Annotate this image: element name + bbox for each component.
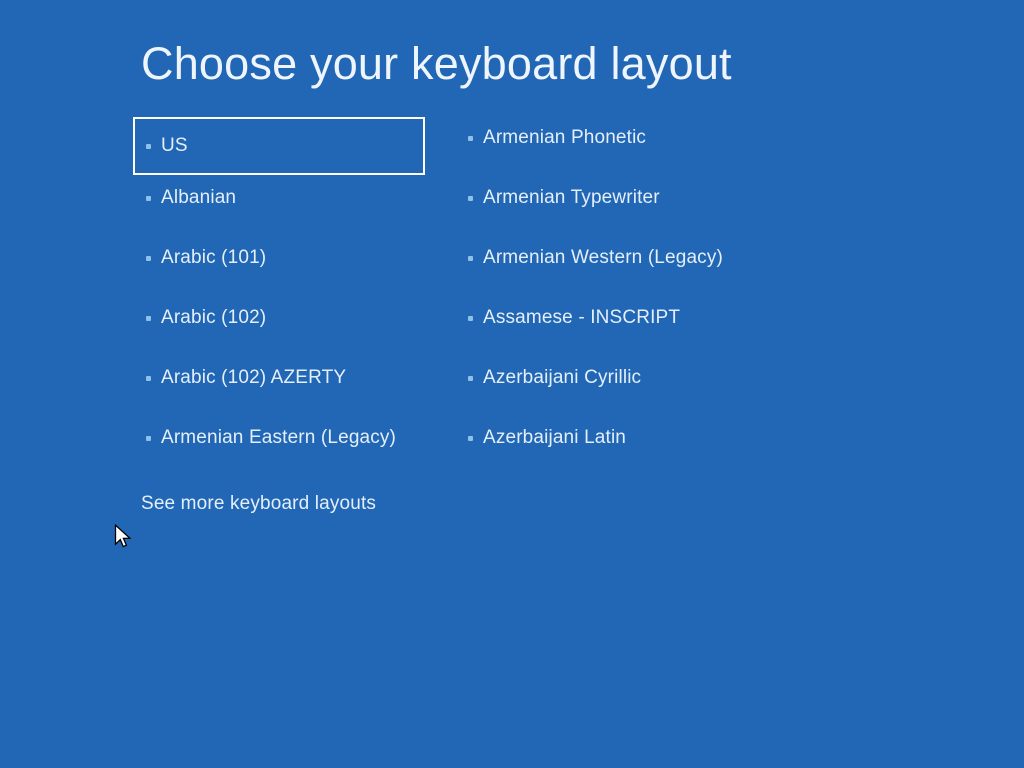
keyboard-layout-option[interactable]: Albanian bbox=[133, 180, 425, 216]
bullet-icon bbox=[468, 436, 473, 441]
keyboard-layout-option-label: US bbox=[161, 135, 188, 157]
keyboard-layout-option[interactable]: Arabic (101) bbox=[133, 240, 425, 276]
recovery-environment-screen: Choose your keyboard layout USAlbanianAr… bbox=[0, 0, 1024, 768]
keyboard-layout-option-label: Armenian Typewriter bbox=[483, 187, 660, 209]
bullet-icon bbox=[146, 376, 151, 381]
keyboard-layout-option-label: Assamese - INSCRIPT bbox=[483, 307, 680, 329]
keyboard-layout-option-label: Armenian Phonetic bbox=[483, 127, 646, 149]
keyboard-layout-option-label: Arabic (102) AZERTY bbox=[161, 367, 346, 389]
keyboard-layout-option[interactable]: US bbox=[133, 117, 425, 175]
bullet-icon bbox=[468, 316, 473, 321]
keyboard-layout-option-label: Arabic (101) bbox=[161, 247, 266, 269]
keyboard-layout-option-label: Azerbaijani Latin bbox=[483, 427, 626, 449]
bullet-icon bbox=[468, 196, 473, 201]
keyboard-layout-option-label: Arabic (102) bbox=[161, 307, 266, 329]
keyboard-layout-option-label: Albanian bbox=[161, 187, 236, 209]
keyboard-layout-option[interactable]: Armenian Western (Legacy) bbox=[455, 240, 785, 276]
keyboard-layout-option[interactable]: Assamese - INSCRIPT bbox=[455, 300, 785, 336]
keyboard-layout-list: USAlbanianArabic (101)Arabic (102)Arabic… bbox=[0, 0, 1024, 768]
keyboard-layout-option-label: Azerbaijani Cyrillic bbox=[483, 367, 641, 389]
bullet-icon bbox=[468, 136, 473, 141]
keyboard-layout-option[interactable]: Armenian Phonetic bbox=[455, 120, 785, 156]
bullet-icon bbox=[146, 196, 151, 201]
keyboard-layout-option[interactable]: Armenian Eastern (Legacy) bbox=[133, 420, 425, 456]
keyboard-layout-option[interactable]: Azerbaijani Cyrillic bbox=[455, 360, 785, 396]
bullet-icon bbox=[146, 256, 151, 261]
see-more-keyboard-layouts-link[interactable]: See more keyboard layouts bbox=[141, 492, 376, 516]
keyboard-layout-option[interactable]: Armenian Typewriter bbox=[455, 180, 785, 216]
keyboard-layout-option-label: Armenian Eastern (Legacy) bbox=[161, 427, 396, 449]
keyboard-layout-option[interactable]: Arabic (102) AZERTY bbox=[133, 360, 425, 396]
bullet-icon bbox=[146, 316, 151, 321]
bullet-icon bbox=[146, 144, 151, 149]
bullet-icon bbox=[468, 256, 473, 261]
keyboard-layout-option[interactable]: Azerbaijani Latin bbox=[455, 420, 785, 456]
keyboard-layout-option-label: Armenian Western (Legacy) bbox=[483, 247, 723, 269]
bullet-icon bbox=[146, 436, 151, 441]
keyboard-layout-option[interactable]: Arabic (102) bbox=[133, 300, 425, 336]
bullet-icon bbox=[468, 376, 473, 381]
